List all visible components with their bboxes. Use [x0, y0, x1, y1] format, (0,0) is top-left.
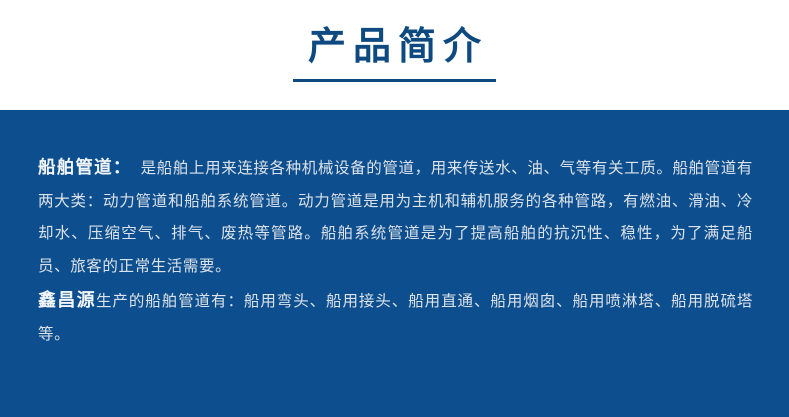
title-underline-rule — [293, 79, 496, 82]
product-intro-banner: 产品简介 船舶管道：是船舶上用来连接各种机械设备的管道，用来传送水、油、气等有关… — [0, 0, 789, 417]
paragraph-shipping-pipeline: 船舶管道：是船舶上用来连接各种机械设备的管道，用来传送水、油、气等有关工质。船舶… — [38, 152, 753, 282]
page-title: 产品简介 — [0, 0, 789, 68]
header-inner: 产品简介 — [0, 0, 789, 82]
product-list-text: 生产的船舶管道有：船用弯头、船用接头、船用直通、船用烟囱、船用喷淋塔、船用脱硫塔… — [38, 292, 753, 343]
brand-name-label: 鑫昌源 — [38, 290, 96, 311]
copy-container: 船舶管道：是船舶上用来连接各种机械设备的管道，用来传送水、油、气等有关工质。船舶… — [38, 152, 753, 350]
paragraph-lead-label: 船舶管道： — [38, 158, 132, 178]
content-panel: 船舶管道：是船舶上用来连接各种机械设备的管道，用来传送水、油、气等有关工质。船舶… — [0, 110, 789, 417]
paragraph-product-list: 鑫昌源生产的船舶管道有：船用弯头、船用接头、船用直通、船用烟囱、船用喷淋塔、船用… — [38, 285, 753, 350]
paragraph-body-text: 是船舶上用来连接各种机械设备的管道，用来传送水、油、气等有关工质。船舶管道有两大… — [38, 159, 753, 275]
header-band: 产品简介 — [0, 0, 789, 110]
